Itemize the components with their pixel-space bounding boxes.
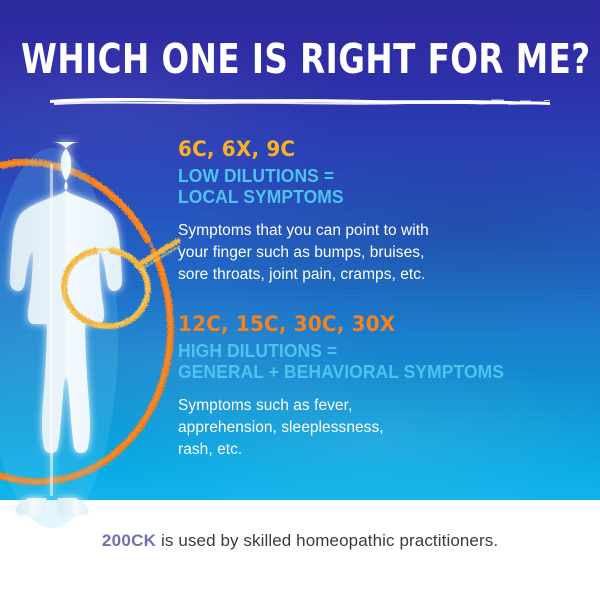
dilution-heading-low: LOW DILUTIONS = LOCAL SYMPTOMS [178,166,421,208]
poster-root: WHICH ONE IS RIGHT FOR ME? [0,0,600,600]
dose-label-low: 6C, 6X, 9C [178,138,416,160]
page-title: WHICH ONE IS RIGHT FOR ME? [21,40,579,81]
panel-bottom-ragged-edge [0,568,600,600]
dose-label-high: 12C, 15C, 30C, 30X [178,313,497,335]
footer-note: 200CK is used by skilled homeopathic pra… [0,531,600,551]
dilution-block-high: 12C, 15C, 30C, 30X HIGH DILUTIONS = GENE… [178,313,514,462]
dilution-detail-low: Symptoms that you can point to with your… [178,220,429,287]
body-figure-artwork [0,108,204,528]
dilution-detail-high: Symptoms such as fever, apprehension, sl… [178,395,514,462]
footer-note-text: is used by skilled homeopathic practitio… [156,531,498,550]
dilution-block-low: 6C, 6X, 9C LOW DILUTIONS = LOCAL SYMPTOM… [178,138,429,287]
dilution-heading-high: HIGH DILUTIONS = GENERAL + BEHAVIORAL SY… [178,341,504,383]
footer-dose-tag: 200CK [102,531,156,550]
